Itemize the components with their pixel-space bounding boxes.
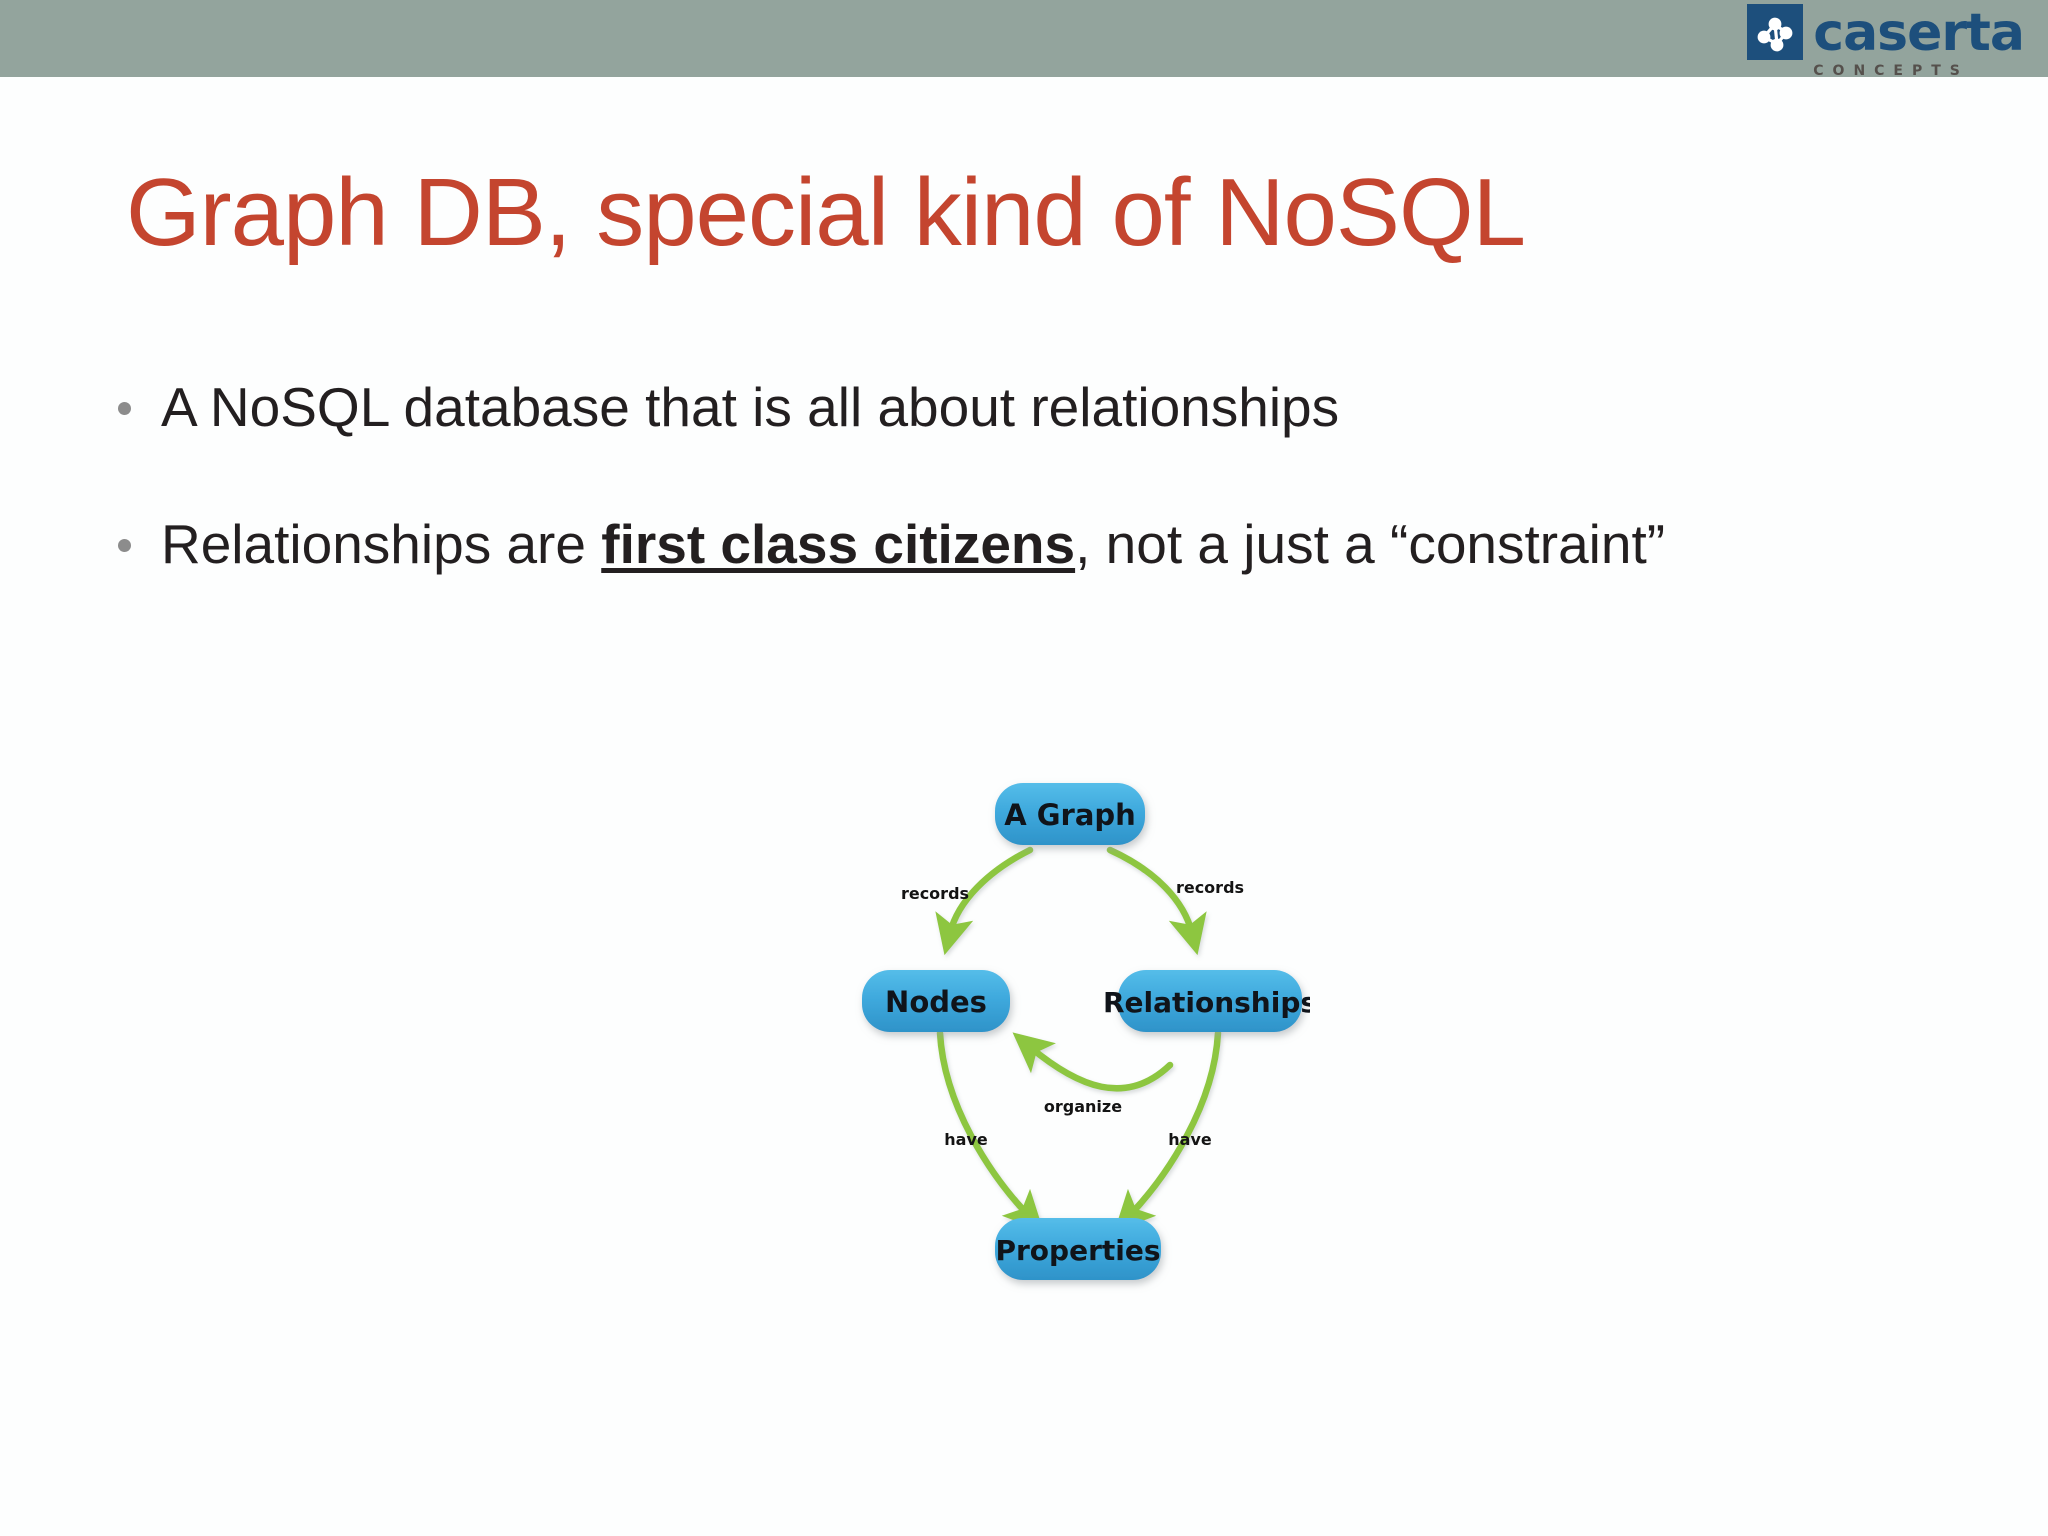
bullet-text: A NoSQL database that is all about relat…: [161, 375, 1838, 440]
list-item: A NoSQL database that is all about relat…: [118, 375, 1838, 440]
page-title: Graph DB, special kind of NoSQL: [126, 158, 1525, 268]
bullet-text-pre: A NoSQL database that is all about relat…: [161, 376, 1339, 438]
bullet-dot-icon: [118, 539, 131, 552]
bullet-text: Relationships are first class citizens, …: [161, 512, 1838, 577]
edge-label-organize: organize: [1044, 1097, 1122, 1116]
bullet-text-emphasis: first class citizens: [601, 513, 1075, 575]
brand-tagline: CONCEPTS: [1813, 64, 1969, 78]
brand-wordmark: caserta: [1813, 9, 2024, 58]
node-nodes-label: Nodes: [885, 985, 987, 1019]
edge-label-have-right: have: [1168, 1130, 1212, 1149]
graph-diagram: A Graph Nodes Relationships Properties r…: [840, 775, 1310, 1415]
brand-logo-row: caserta: [1747, 4, 2024, 60]
caserta-network-mark-icon: [1747, 4, 1803, 60]
node-relationships-label: Relationships: [1103, 986, 1310, 1019]
bullet-text-pre: Relationships are: [161, 513, 601, 575]
edge-nodes-to-properties: [940, 1033, 1028, 1215]
node-a-graph-label: A Graph: [1004, 798, 1136, 832]
list-item: Relationships are first class citizens, …: [118, 512, 1838, 577]
node-properties-label: Properties: [995, 1234, 1160, 1267]
brand-logo: caserta CONCEPTS: [1747, 4, 2024, 78]
edge-label-records-right: records: [1176, 878, 1244, 897]
header-band: caserta CONCEPTS: [0, 0, 2048, 77]
bullet-list: A NoSQL database that is all about relat…: [118, 375, 1838, 649]
bullet-text-post: , not a just a “constraint”: [1075, 513, 1665, 575]
edge-label-have-left: have: [944, 1130, 988, 1149]
edge-relationships-to-properties: [1130, 1033, 1218, 1215]
edge-label-records-left: records: [901, 884, 969, 903]
edge-relationships-to-nodes: [1030, 1047, 1170, 1088]
bullet-dot-icon: [118, 402, 131, 415]
